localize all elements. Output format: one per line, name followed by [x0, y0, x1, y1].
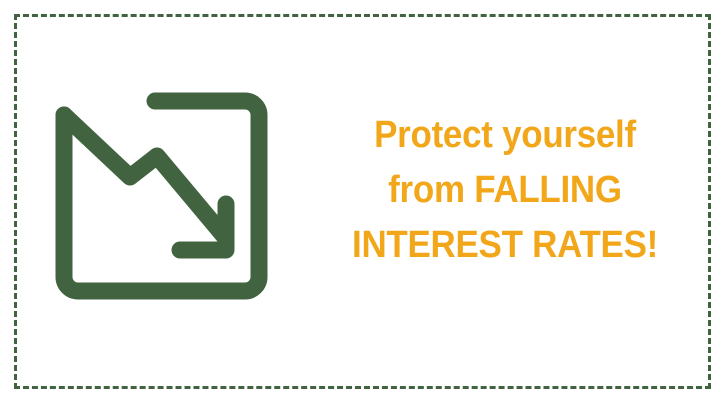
trend-line-path	[64, 115, 224, 236]
falling-chart-arrow-icon	[46, 92, 272, 301]
falling-chart-arrow-icon-svg	[46, 92, 272, 301]
chart-frame-path	[64, 101, 259, 291]
headline-line-3: INTEREST RATES!	[316, 218, 693, 273]
headline-line-2: from FALLING	[316, 163, 693, 218]
headline: Protect yourself from FALLING INTEREST R…	[300, 108, 710, 273]
icon-strokes	[64, 101, 259, 291]
promo-banner: Protect yourself from FALLING INTEREST R…	[0, 0, 725, 403]
headline-line-1: Protect yourself	[316, 108, 693, 163]
